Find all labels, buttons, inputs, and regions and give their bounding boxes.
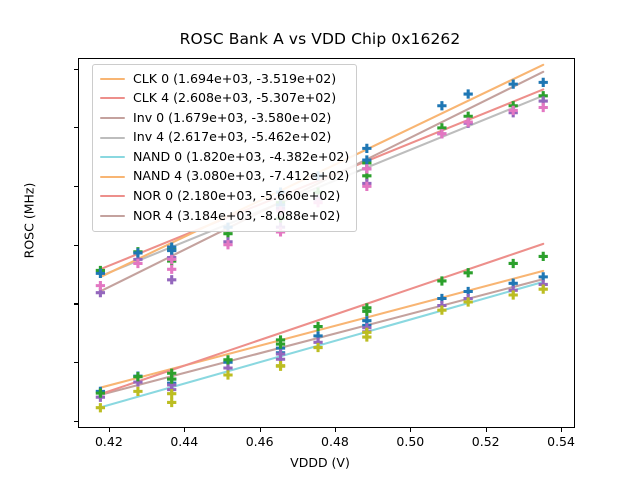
x-tick-mark: [335, 428, 336, 432]
x-tick-label: 0.50: [396, 434, 424, 449]
y-tick-mark: [74, 362, 78, 363]
legend-item-nor-4[interactable]: NOR 4 (3.184e+03, -8.088e+02): [99, 206, 349, 226]
x-tick-label: 0.42: [95, 434, 123, 449]
y-tick-mark: [74, 127, 78, 128]
legend-label: NAND 4 (3.080e+03, -7.412e+02): [133, 170, 349, 183]
legend-color-swatch: [100, 117, 125, 119]
x-tick-mark: [561, 428, 562, 432]
legend-item-inv-0[interactable]: Inv 0 (1.679e+03, -3.580e+02): [99, 108, 349, 128]
fit-line: [100, 244, 543, 394]
x-tick-label: 0.48: [321, 434, 349, 449]
scatter-point: [437, 101, 446, 110]
scatter-point: [437, 129, 446, 138]
x-tick-label: 0.46: [246, 434, 274, 449]
y-tick-mark: [74, 303, 78, 304]
scatter-point: [276, 362, 285, 371]
scatter-point: [464, 89, 473, 98]
scatter-point: [167, 275, 176, 284]
legend-color-swatch: [100, 78, 125, 80]
legend-label: NOR 4 (3.184e+03, -8.088e+02): [133, 210, 340, 223]
y-tick-mark: [74, 186, 78, 187]
legend-color-swatch: [100, 176, 125, 178]
legend-item-clk-4[interactable]: CLK 4 (2.608e+03, -5.307e+02): [99, 89, 349, 109]
legend[interactable]: CLK 0 (1.694e+03, -3.519e+02)CLK 4 (2.60…: [92, 64, 357, 232]
y-tick-mark: [74, 69, 78, 70]
fit-line: [100, 271, 543, 388]
scatter-series: [96, 285, 548, 413]
y-tick-mark: [74, 245, 78, 246]
legend-label: NAND 0 (1.820e+03, -4.382e+02): [133, 151, 349, 164]
legend-label: CLK 0 (1.694e+03, -3.519e+02): [133, 73, 336, 86]
legend-label: Inv 4 (2.617e+03, -5.462e+02): [133, 131, 331, 144]
x-tick-label: 0.44: [170, 434, 198, 449]
scatter-point: [509, 259, 518, 268]
legend-label: CLK 4 (2.608e+03, -5.307e+02): [133, 92, 336, 105]
scatter-point: [167, 398, 176, 407]
legend-color-swatch: [100, 215, 125, 217]
scatter-series: [96, 280, 548, 402]
x-tick-mark: [410, 428, 411, 432]
legend-item-inv-4[interactable]: Inv 4 (2.617e+03, -5.462e+02): [99, 128, 349, 148]
legend-item-nand-0[interactable]: NAND 0 (1.820e+03, -4.382e+02): [99, 147, 349, 167]
x-tick-mark: [260, 428, 261, 432]
x-tick-mark: [486, 428, 487, 432]
scatter-point: [167, 265, 176, 274]
y-tick-mark: [74, 421, 78, 422]
legend-color-swatch: [100, 97, 125, 99]
x-tick-mark: [109, 428, 110, 432]
x-tick-label: 0.54: [547, 434, 575, 449]
y-axis-label: ROSC (MHz): [22, 151, 37, 291]
scatter-point: [133, 387, 142, 396]
legend-item-nand-4[interactable]: NAND 4 (3.080e+03, -7.412e+02): [99, 167, 349, 187]
scatter-point: [96, 403, 105, 412]
legend-label: Inv 0 (1.679e+03, -3.580e+02): [133, 112, 331, 125]
x-tick-mark: [184, 428, 185, 432]
figure: ROSC Bank A vs VDD Chip 0x16262 30040050…: [0, 0, 640, 480]
x-axis-label: VDDD (V): [0, 455, 640, 470]
legend-color-swatch: [100, 156, 125, 158]
scatter-point: [539, 252, 548, 261]
scatter-point: [539, 103, 548, 112]
legend-label: NOR 0 (2.180e+03, -5.660e+02): [133, 190, 340, 203]
x-tick-label: 0.52: [472, 434, 500, 449]
legend-item-nor-0[interactable]: NOR 0 (2.180e+03, -5.660e+02): [99, 187, 349, 207]
chart-title: ROSC Bank A vs VDD Chip 0x16262: [0, 30, 640, 48]
legend-color-swatch: [100, 195, 125, 197]
scatter-point: [539, 78, 548, 87]
legend-color-swatch: [100, 137, 125, 139]
scatter-series: [96, 252, 548, 398]
fit-line: [100, 282, 543, 407]
legend-item-clk-0[interactable]: CLK 0 (1.694e+03, -3.519e+02): [99, 69, 349, 89]
